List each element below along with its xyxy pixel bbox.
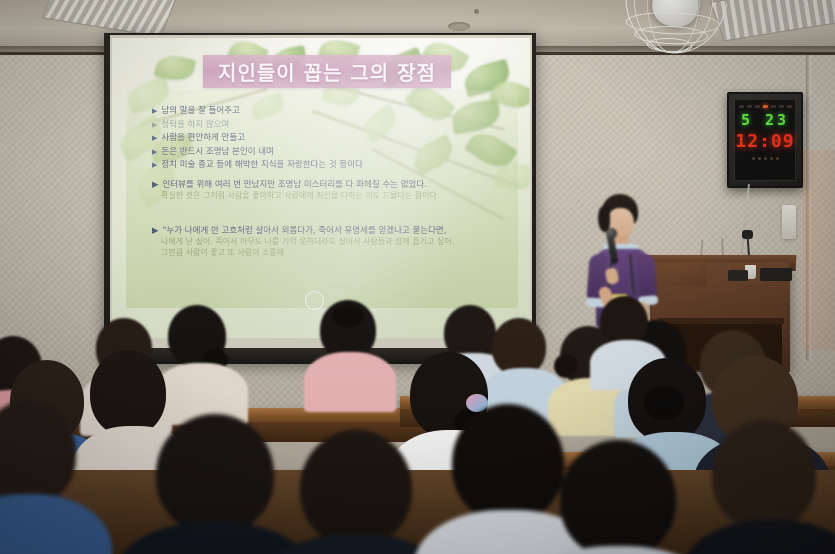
day-indicator bbox=[747, 105, 752, 108]
bullet-marker-icon: ▶ bbox=[152, 147, 157, 158]
person-hair-bun bbox=[644, 386, 684, 420]
slide-title: 지인들이 꼽는 그의 장점 bbox=[218, 57, 436, 86]
clock-time-display: 12:09 bbox=[735, 133, 794, 151]
bullet-marker-icon: ▶ bbox=[152, 160, 157, 171]
slide-bullet-text: 청탁을 하지 않으며 bbox=[161, 120, 229, 131]
bullet-marker-icon: ▶ bbox=[152, 120, 157, 131]
slide-paragraph-2: ▶ "누가 나에게 반 고흐처럼 살아서 외롭다가, 죽어서 유명세를 얻겠나고… bbox=[152, 226, 510, 258]
footer-dot bbox=[764, 157, 767, 160]
footer-dot bbox=[770, 157, 773, 160]
paragraph-sub-text: 나에게 난 싫어. 죽어서 아무도 나를 기억 못하더라도 살아서 사람들과 함… bbox=[161, 237, 510, 248]
ceiling-fixture-dot bbox=[448, 22, 470, 31]
person-head bbox=[300, 430, 412, 546]
led-wall-clock: 5 23 12:09 bbox=[727, 92, 803, 188]
slide-bullet-text: 남의 말을 잘 들어주고 bbox=[161, 106, 240, 117]
bullet-marker-icon: ▶ bbox=[152, 180, 159, 191]
clock-face: 5 23 12:09 bbox=[734, 99, 796, 181]
slide-bullet-text: 돈은 반드시 조명남 본인이 내며 bbox=[161, 147, 273, 158]
slide-bullet-item: ▶ 사람을 편안하게 만들고 bbox=[152, 133, 502, 144]
slide-bullet-item: ▶ 청탁을 하지 않으며 bbox=[152, 120, 502, 131]
paragraph-sub-text: 확실한 것은 그처럼 사람을 좋아하고 사람에게 최선을 다하는 이도 드물다는… bbox=[161, 191, 510, 202]
slide-bullet-item: ▶ 정치 미술 종교 등에 해박한 지식을 자랑한다는 것 등이다 bbox=[152, 160, 502, 171]
day-indicator bbox=[739, 105, 744, 108]
clock-date-display: 5 23 bbox=[741, 113, 789, 128]
slide-bullet-item: ▶ 돈은 반드시 조명남 본인이 내며 bbox=[152, 147, 502, 158]
paragraph-lead-text: 인터뷰를 위해 여러 번 만났지만 조명남 미스터리를 다 파헤칠 수는 없었다… bbox=[163, 180, 427, 191]
slide-bullet-text: 정치 미술 종교 등에 해박한 지식을 자랑한다는 것 등이다 bbox=[161, 160, 362, 171]
person-shoulders bbox=[304, 352, 396, 412]
paragraph-lead: ▶ "누가 나에게 반 고흐처럼 살아서 외롭다가, 죽어서 유명세를 얻겠나고… bbox=[152, 226, 510, 237]
slide-title-banner: 지인들이 꼽는 그의 장점 bbox=[203, 55, 451, 88]
slide-bullet-text: 사람을 편안하게 만들고 bbox=[161, 133, 245, 144]
slide-bullet-item: ▶ 남의 말을 잘 들어주고 bbox=[152, 106, 502, 117]
slide-paragraph-1: ▶ 인터뷰를 위해 여러 번 만났지만 조명남 미스터리를 다 파헤칠 수는 없… bbox=[152, 180, 510, 202]
av-equipment-box bbox=[760, 268, 792, 281]
clock-day-indicators bbox=[739, 105, 792, 108]
person-head bbox=[560, 440, 676, 554]
projected-slide: 지인들이 꼽는 그의 장점 ▶ 남의 말을 잘 들어주고 ▶ 청탁을 하지 않으… bbox=[112, 38, 530, 338]
person-head bbox=[712, 420, 816, 530]
person-hair-bun bbox=[554, 354, 578, 378]
bullet-marker-icon: ▶ bbox=[152, 226, 159, 237]
paragraph-lead: ▶ 인터뷰를 위해 여러 번 만났지만 조명남 미스터리를 다 파헤칠 수는 없… bbox=[152, 180, 510, 191]
day-indicator bbox=[779, 105, 784, 108]
day-indicator bbox=[755, 105, 760, 108]
wall-warm-light bbox=[802, 150, 835, 350]
footer-dot bbox=[758, 157, 761, 160]
footer-dot bbox=[752, 157, 755, 160]
paragraph-lead-text: "누가 나에게 반 고흐처럼 살아서 외롭다가, 죽어서 유명세를 얻겠나고 묻… bbox=[163, 226, 447, 237]
footer-dot bbox=[776, 157, 779, 160]
person-head bbox=[156, 414, 274, 534]
person-head bbox=[452, 404, 564, 522]
paragraph-sub-text-2: 그만큼 사람이 좋고 또 사람이 소중해 bbox=[161, 248, 510, 259]
slide-bullet-list: ▶ 남의 말을 잘 들어주고 ▶ 청탁을 하지 않으며 ▶ 사람을 편안하게 만… bbox=[152, 106, 502, 174]
bullet-marker-icon: ▶ bbox=[152, 106, 157, 117]
av-equipment-box-2 bbox=[728, 270, 748, 281]
day-indicator bbox=[787, 105, 792, 108]
ceiling-spot bbox=[474, 9, 479, 14]
clock-footer-dots bbox=[752, 157, 779, 160]
day-indicator-active bbox=[763, 105, 768, 108]
presenter-sleeve-right bbox=[636, 253, 658, 300]
photo-scene: 지인들이 꼽는 그의 장점 ▶ 남의 말을 잘 들어주고 ▶ 청탁을 하지 않으… bbox=[0, 0, 835, 554]
day-indicator bbox=[771, 105, 776, 108]
wall-phone bbox=[782, 205, 796, 239]
bullet-marker-icon: ▶ bbox=[152, 133, 157, 144]
slide-decoration-circle bbox=[305, 291, 324, 310]
person-head bbox=[90, 350, 166, 436]
person-hair-bun bbox=[332, 304, 364, 328]
